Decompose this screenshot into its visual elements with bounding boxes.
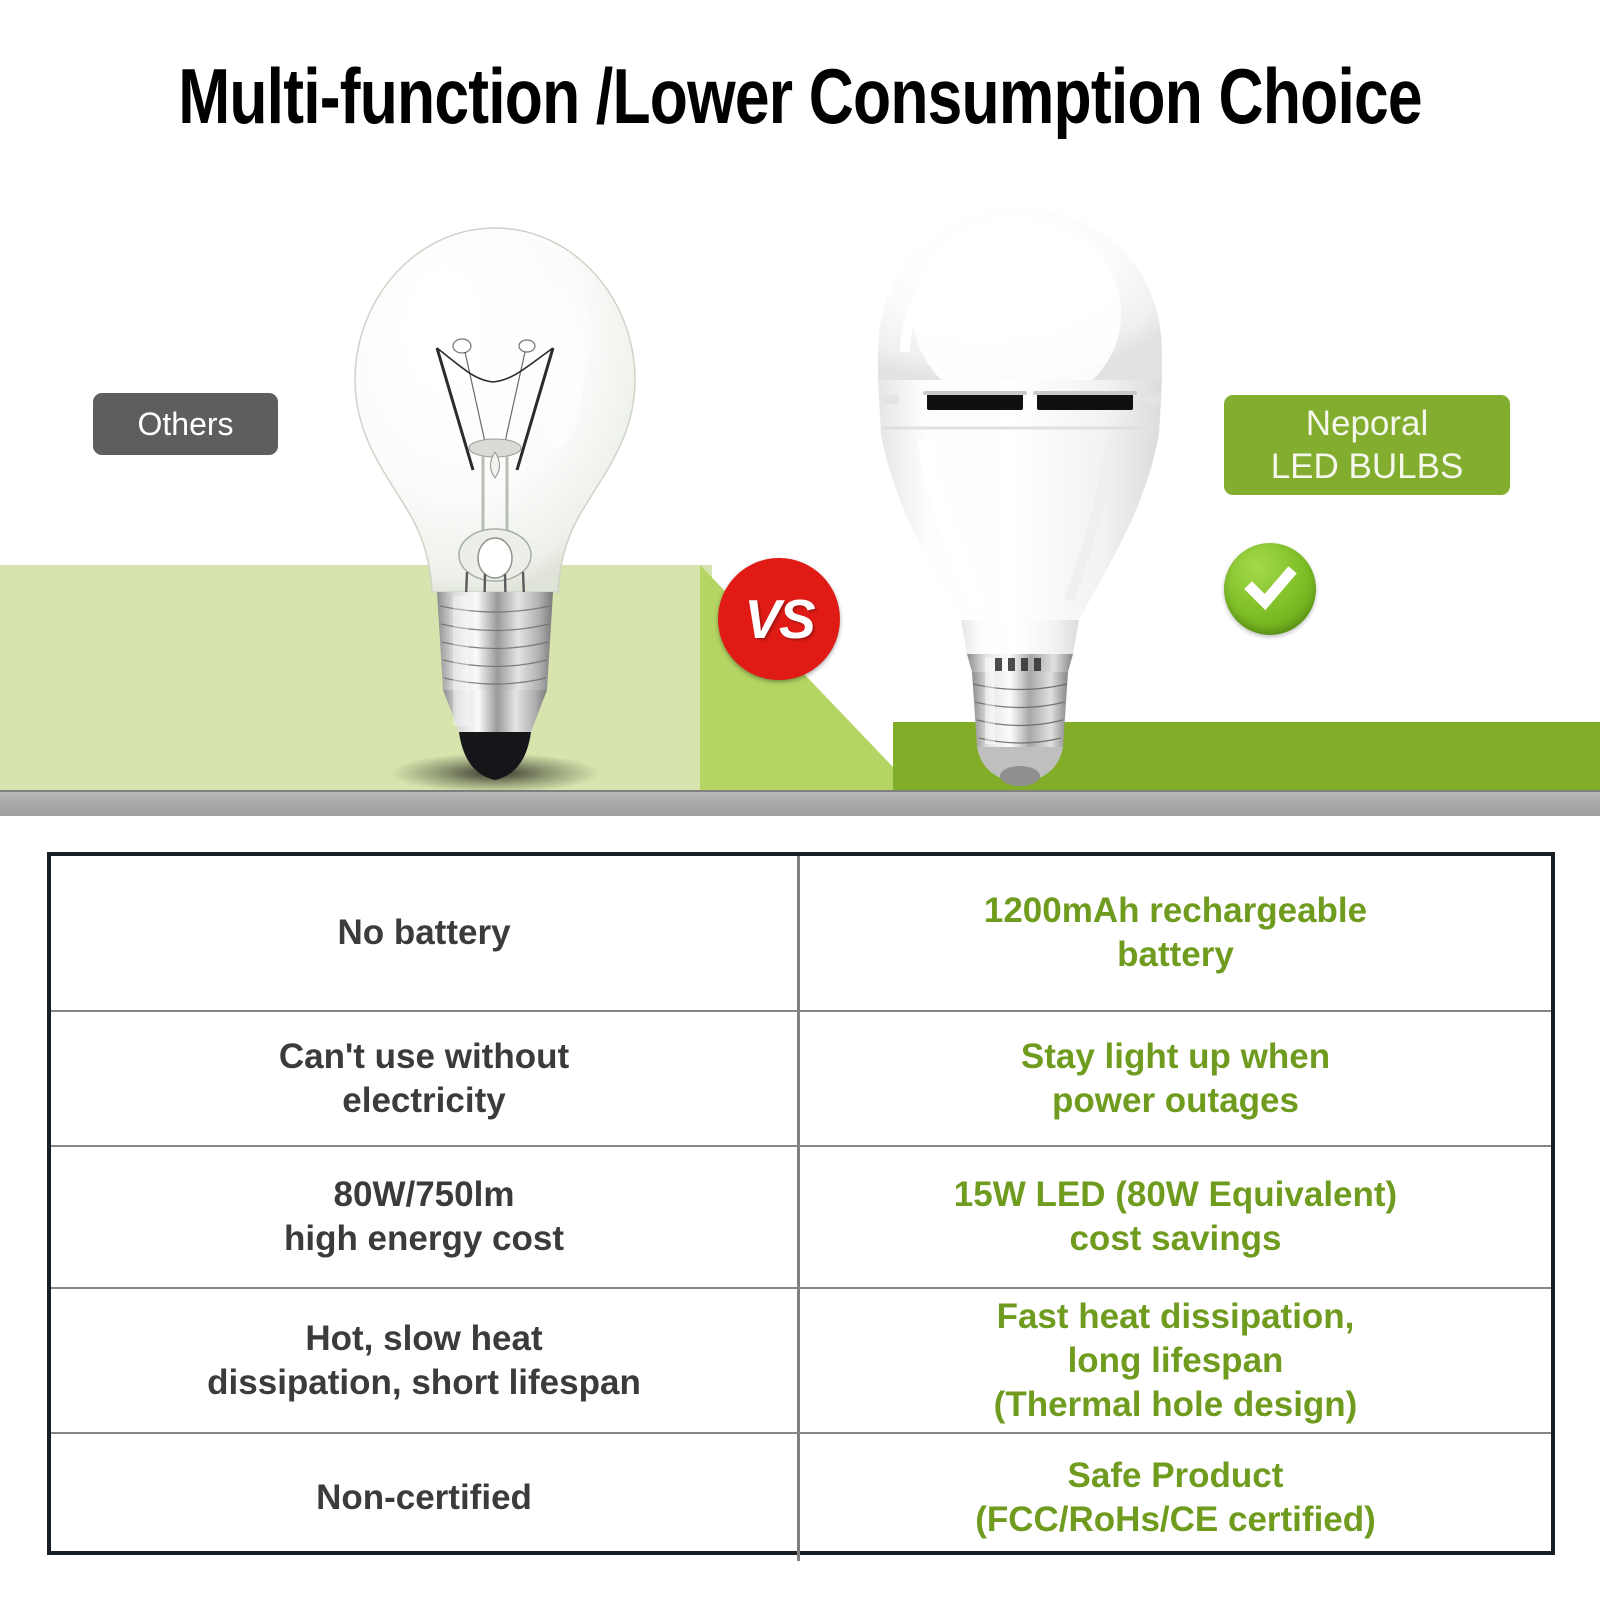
neporal-cell: 1200mAh rechargeable battery (797, 856, 1551, 1010)
check-badge (1224, 543, 1316, 635)
hero-comparison-area: Others Neporal LED BULBS VS (0, 160, 1600, 820)
others-cell: No battery (51, 856, 797, 1010)
led-bulb-image (865, 202, 1175, 792)
others-cell: 80W/750lm high energy cost (51, 1147, 797, 1287)
page-title: Multi-function /Lower Consumption Choice (160, 52, 1440, 140)
table-row: Can't use without electricity Stay light… (51, 1010, 1551, 1145)
others-cell: Can't use without electricity (51, 1012, 797, 1145)
versus-badge: VS (718, 558, 840, 680)
brand-label-badge: Neporal LED BULBS (1224, 395, 1510, 495)
others-cell: Hot, slow heat dissipation, short lifesp… (51, 1289, 797, 1432)
infographic-page: Multi-function /Lower Consumption Choice (0, 0, 1600, 1600)
incandescent-bulb-image (345, 220, 645, 790)
table-row: 80W/750lm high energy cost 15W LED (80W … (51, 1145, 1551, 1287)
brand-product-text: LED BULBS (1271, 445, 1464, 488)
table-row: Hot, slow heat dissipation, short lifesp… (51, 1287, 1551, 1432)
check-mark-icon (1239, 558, 1301, 620)
table-row: Non-certified Safe Product (FCC/RoHs/CE … (51, 1432, 1551, 1561)
table-row: No battery 1200mAh rechargeable battery (51, 856, 1551, 1010)
neporal-cell: Stay light up when power outages (797, 1012, 1551, 1145)
others-label-text: Others (137, 406, 233, 443)
gray-shelf-bar (0, 790, 1600, 816)
brand-name-text: Neporal (1306, 402, 1429, 445)
versus-label: VS (744, 587, 813, 651)
neporal-cell: Fast heat dissipation, long lifespan (Th… (797, 1289, 1551, 1432)
neporal-cell: 15W LED (80W Equivalent) cost savings (797, 1147, 1551, 1287)
comparison-table: No battery 1200mAh rechargeable battery … (47, 852, 1555, 1555)
neporal-cell: Safe Product (FCC/RoHs/CE certified) (797, 1434, 1551, 1561)
others-label-badge: Others (93, 393, 278, 455)
others-cell: Non-certified (51, 1434, 797, 1561)
